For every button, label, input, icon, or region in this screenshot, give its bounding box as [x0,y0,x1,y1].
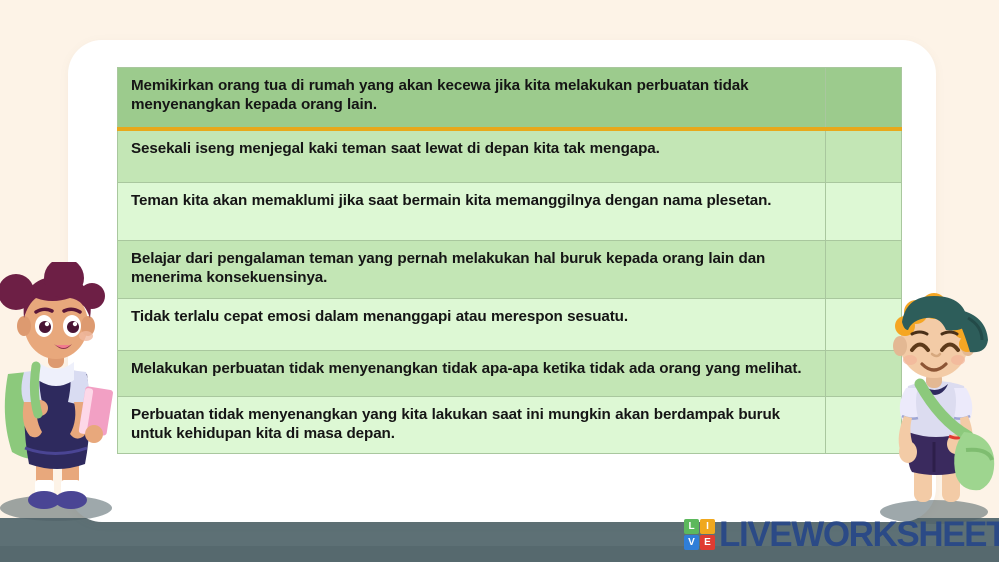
answer-text[interactable] [826,299,901,350]
logo-square-v: V [684,535,699,550]
statement-cell: Tidak terlalu cepat emosi dalam menangga… [118,298,826,350]
statement-text: Memikirkan orang tua di rumah yang akan … [118,68,825,127]
answer-text[interactable] [826,241,901,286]
liveworksheets-wordmark: LIVEWORKSHEETS [719,517,999,552]
answer-text[interactable] [826,351,901,396]
table-row: Perbuatan tidak menyenangkan yang kita l… [118,396,902,453]
answer-text[interactable] [826,397,901,442]
answer-cell[interactable] [826,68,902,130]
statement-cell: Perbuatan tidak menyenangkan yang kita l… [118,396,826,453]
statement-text: Belajar dari pengalaman teman yang perna… [118,241,825,297]
answer-cell[interactable] [826,241,902,298]
answer-text[interactable] [826,183,901,240]
statement-cell: Sesekali iseng menjegal kaki teman saat … [118,129,826,183]
statement-text: Perbuatan tidak menyenangkan yang kita l… [118,397,825,453]
statements-table: Memikirkan orang tua di rumah yang akan … [117,67,902,454]
logo-square-l: L [684,519,699,534]
table-row: Melakukan perbuatan tidak menyenangkan t… [118,350,902,396]
logo-square-e: E [700,535,715,550]
table-row: Belajar dari pengalaman teman yang perna… [118,241,902,298]
answer-cell[interactable] [826,183,902,241]
statement-cell: Memikirkan orang tua di rumah yang akan … [118,68,826,130]
logo-square-i: I [700,519,715,534]
statement-text: Melakukan perbuatan tidak menyenangkan t… [118,351,825,396]
statement-text: Sesekali iseng menjegal kaki teman saat … [118,131,825,182]
table-row: Tidak terlalu cepat emosi dalam menangga… [118,298,902,350]
statement-cell: Teman kita akan memaklumi jika saat berm… [118,183,826,241]
statement-text: Tidak terlalu cepat emosi dalam menangga… [118,299,825,350]
answer-text[interactable] [826,68,901,125]
answer-cell[interactable] [826,396,902,453]
answer-text[interactable] [826,131,901,182]
liveworksheets-logo-squares: L I V E [684,519,715,550]
table-row: Sesekali iseng menjegal kaki teman saat … [118,129,902,183]
statement-cell: Belajar dari pengalaman teman yang perna… [118,241,826,298]
statement-cell: Melakukan perbuatan tidak menyenangkan t… [118,350,826,396]
answer-cell[interactable] [826,129,902,183]
table-row: Memikirkan orang tua di rumah yang akan … [118,68,902,130]
statements-table-body: Memikirkan orang tua di rumah yang akan … [118,68,902,454]
liveworksheets-logo[interactable]: L I V E LIVEWORKSHEETS [684,517,999,552]
table-row: Teman kita akan memaklumi jika saat berm… [118,183,902,241]
answer-cell[interactable] [826,350,902,396]
statement-text: Teman kita akan memaklumi jika saat berm… [118,183,825,240]
answer-cell[interactable] [826,298,902,350]
